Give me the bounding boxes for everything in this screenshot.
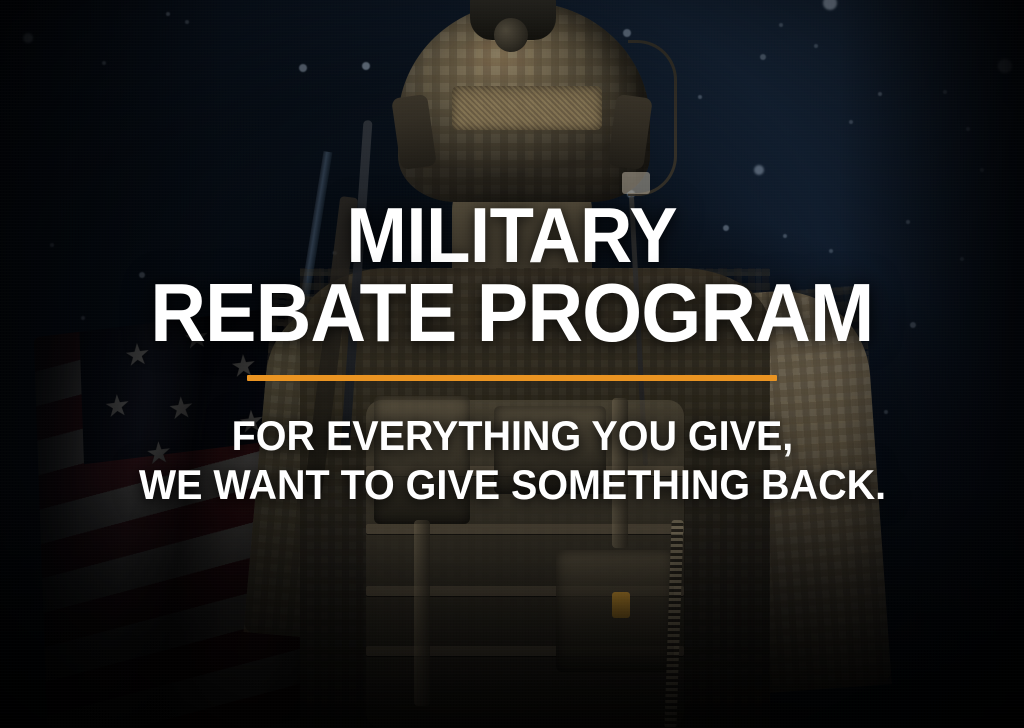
tagline-line-1: FOR EVERYTHING YOU GIVE, [138, 411, 885, 461]
page-title: MILITARY REBATE PROGRAM [150, 198, 873, 353]
tagline: FOR EVERYTHING YOU GIVE, WE WANT TO GIVE… [138, 411, 885, 510]
headline-line-2: REBATE PROGRAM [150, 273, 873, 353]
tagline-line-2: WE WANT TO GIVE SOMETHING BACK. [138, 460, 885, 510]
headline-line-1: MILITARY [150, 198, 873, 273]
accent-divider [247, 375, 777, 381]
military-rebate-banner: ★★★★★★★ [0, 0, 1024, 728]
banner-content: MILITARY REBATE PROGRAM FOR EVERYTHING Y… [0, 0, 1024, 728]
